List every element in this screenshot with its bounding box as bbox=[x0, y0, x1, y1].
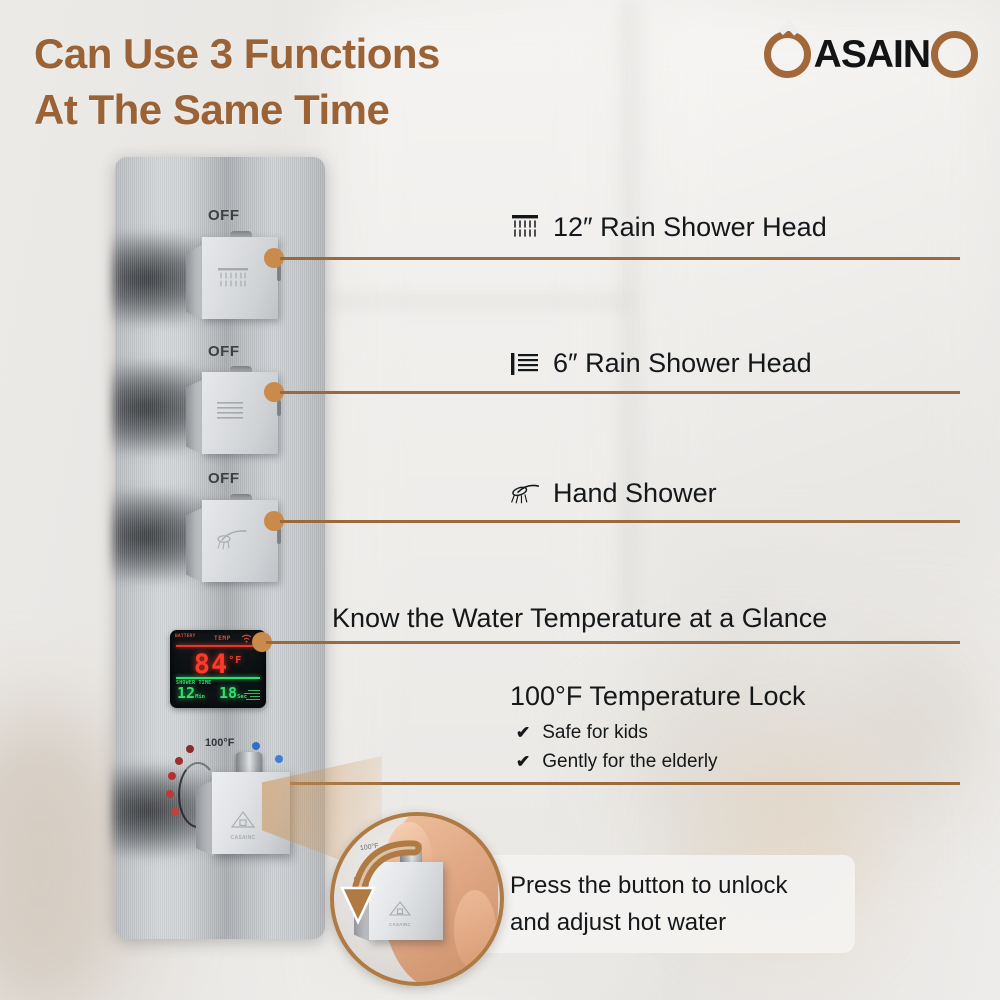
valve-unlock-button[interactable] bbox=[236, 752, 262, 774]
shower-button-rain-12[interactable] bbox=[186, 231, 278, 319]
knob-edge-3 bbox=[277, 528, 281, 544]
valve-brand-engraving: CASAINC bbox=[230, 810, 256, 841]
lock-bullet-1: ✔ Safe for kids bbox=[516, 722, 648, 744]
hot-dot-2 bbox=[175, 757, 183, 765]
caption-line-2: and adjust hot water bbox=[510, 904, 788, 941]
callout-line-2 bbox=[280, 391, 960, 394]
infographic-canvas: Can Use 3 Functions At The Same Time ASA… bbox=[0, 0, 1000, 1000]
callout-label-text-1: 12″ Rain Shower Head bbox=[553, 212, 827, 243]
temperature-glance-title: Know the Water Temperature at a Glance bbox=[332, 603, 827, 634]
brand-logo: ASAIN bbox=[764, 31, 978, 78]
check-icon-2: ✔ bbox=[516, 752, 530, 772]
lcd-minutes: 12 bbox=[177, 684, 195, 702]
lcd-minutes-unit: Min bbox=[195, 694, 205, 700]
off-label-1: OFF bbox=[208, 207, 240, 224]
caption-card: Press the button to unlock and adjust ho… bbox=[455, 855, 855, 953]
shower-button-rain-6[interactable] bbox=[186, 366, 278, 454]
thumb bbox=[454, 890, 496, 970]
valve-brand-text: CASAINC bbox=[230, 835, 256, 841]
hand-shower-icon bbox=[216, 528, 250, 555]
logo-wordmark: ASAIN bbox=[814, 33, 930, 77]
lcd-battery-label: BATTERY bbox=[175, 635, 195, 640]
curved-arrow-icon bbox=[340, 834, 426, 946]
logo-c-mark-right bbox=[921, 21, 987, 87]
check-icon-1: ✔ bbox=[516, 723, 530, 743]
lcd-top-row: BATTERY TEMP bbox=[175, 634, 261, 643]
off-label-3: OFF bbox=[208, 470, 240, 487]
callout-line-4 bbox=[266, 641, 338, 644]
valve-scale-label: 100°F bbox=[205, 737, 234, 749]
callout-rain-12: 12″ Rain Shower Head bbox=[510, 212, 827, 243]
lcd-temp-unit: °F bbox=[228, 655, 242, 666]
rain-shower-head-icon bbox=[510, 213, 540, 243]
lock-bullet-text-1: Safe for kids bbox=[542, 722, 648, 744]
callout-label-text-2: 6″ Rain Shower Head bbox=[553, 348, 812, 379]
zoom-inset-circle: 100°F CASAINC bbox=[330, 812, 504, 986]
callout-rain-6: 6″ Rain Shower Head bbox=[510, 348, 812, 379]
hot-dot-5 bbox=[171, 808, 179, 816]
lcd-shower-time-value: 12Min 18Sec bbox=[177, 686, 247, 705]
hand-shower-icon bbox=[510, 479, 540, 509]
temperature-lock-title: 100°F Temperature Lock bbox=[510, 681, 805, 712]
lcd-temp-number: 84 bbox=[194, 649, 229, 680]
background-wall-edge bbox=[628, 0, 632, 620]
lcd-signal-bars bbox=[242, 690, 260, 703]
callout-rule-lock bbox=[290, 782, 960, 785]
knob-edge-1 bbox=[277, 265, 281, 281]
knob-edge-2 bbox=[277, 400, 281, 416]
headline-line-1: Can Use 3 Functions bbox=[34, 26, 440, 82]
callout-line-1 bbox=[280, 257, 960, 260]
cold-dot-1 bbox=[252, 742, 260, 750]
lock-bullet-text-2: Gently for the elderly bbox=[542, 751, 717, 773]
off-label-2: OFF bbox=[208, 343, 240, 360]
shower-button-hand[interactable] bbox=[186, 494, 278, 582]
callout-hand-shower: Hand Shower bbox=[510, 478, 717, 509]
logo-c-mark-left bbox=[754, 21, 820, 87]
lcd-temperature-value: 84°F bbox=[170, 647, 266, 678]
headline-line-2: At The Same Time bbox=[34, 82, 440, 138]
rain-shower-icon bbox=[216, 267, 250, 298]
hot-dot-3 bbox=[168, 772, 176, 780]
hot-dot-4 bbox=[166, 790, 174, 798]
lock-bullet-2: ✔ Gently for the elderly bbox=[516, 751, 718, 773]
page-title: Can Use 3 Functions At The Same Time bbox=[34, 26, 440, 138]
side-spray-icon bbox=[216, 400, 246, 431]
background-tile-seam bbox=[330, 300, 630, 303]
lcd-seconds: 18 bbox=[219, 684, 237, 702]
callout-rule-temperature bbox=[332, 641, 960, 644]
caption-line-1: Press the button to unlock bbox=[510, 867, 788, 904]
hot-dot-1 bbox=[186, 745, 194, 753]
callout-label-text-3: Hand Shower bbox=[553, 478, 717, 509]
callout-line-3 bbox=[280, 520, 960, 523]
lcd-temp-label: TEMP bbox=[214, 635, 231, 642]
wifi-icon bbox=[241, 634, 252, 645]
cold-dot-2 bbox=[275, 755, 283, 763]
lcd-green-divider bbox=[176, 677, 260, 679]
background-window-light bbox=[640, 0, 1000, 560]
body-spray-icon bbox=[510, 349, 540, 379]
caption-text: Press the button to unlock and adjust ho… bbox=[510, 867, 788, 941]
